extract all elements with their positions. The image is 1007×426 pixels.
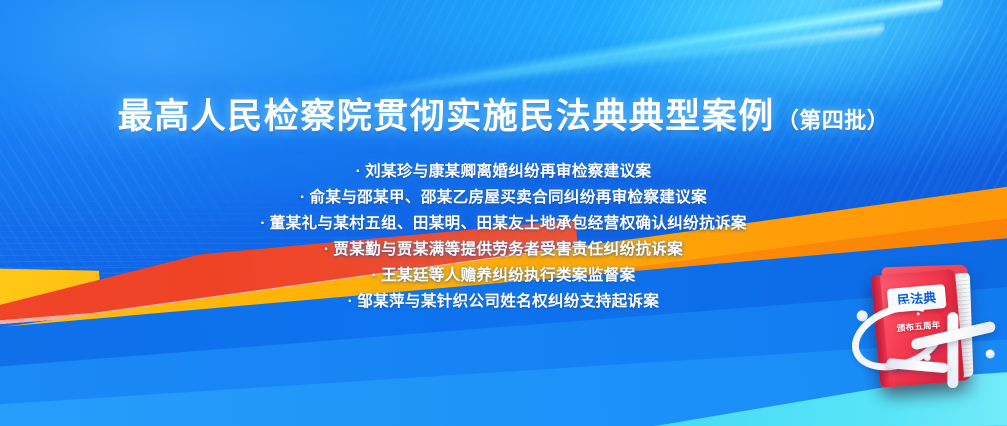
list-item: ·王某廷等人赡养纠纷执行类案监督案 [372,264,636,288]
case-title: 俞某与邵某甲、邵某乙房屋买卖合同纠纷再审检察建议案 [310,189,708,206]
page-title: 最高人民检察院贯彻实施民法典典型案例 [118,88,775,139]
bullet-icon: · [348,293,354,310]
bullet-icon: · [324,241,330,258]
list-item: ·刘某珍与康某卿离婚纠纷再审检察建议案 [356,160,652,184]
list-item: ·贾某勤与贾某满等提供劳务者受害责任纠纷抗诉案 [324,238,683,262]
banner-content: 最高人民检察院贯彻实施民法典典型案例（第四批） ·刘某珍与康某卿离婚纠纷再审检察… [0,0,1007,426]
case-title: 刘某珍与康某卿离婚纠纷再审检察建议案 [365,163,651,180]
case-title: 贾某勤与贾某满等提供劳务者受害责任纠纷抗诉案 [333,241,683,258]
case-list: ·刘某珍与康某卿离婚纠纷再审检察建议案 ·俞某与邵某甲、邵某乙房屋买卖合同纠纷再… [0,160,1007,314]
case-title: 董某礼与某村五组、田某明、田某友土地承包经营权确认纠纷抗诉案 [270,215,747,232]
banner-title: 最高人民检察院贯彻实施民法典典型案例（第四批） [0,88,1007,139]
list-item: ·邹某萍与某针织公司姓名权纠纷支持起诉案 [348,290,660,314]
bullet-icon: · [372,267,378,284]
case-title: 王某廷等人赡养纠纷执行类案监督案 [381,267,635,284]
bullet-icon: · [356,163,362,180]
case-title: 邹某萍与某针织公司姓名权纠纷支持起诉案 [357,293,659,310]
civil-code-book-illustration: 民法典 颁布五周年 [862,264,989,400]
white-ribbon-vertical [947,312,958,388]
pearl-decoration [985,349,995,359]
list-item: ·董某礼与某村五组、田某明、田某友土地承包经营权确认纠纷抗诉案 [260,212,747,236]
bullet-icon: · [300,189,306,206]
list-item: ·俞某与邵某甲、邵某乙房屋买卖合同纠纷再审检察建议案 [300,186,707,210]
bullet-icon: · [260,215,266,232]
page-title-batch-suffix: （第四批） [777,103,890,135]
civil-code-typical-cases-banner: 最高人民检察院贯彻实施民法典典型案例（第四批） ·刘某珍与康某卿离婚纠纷再审检察… [0,0,1007,426]
